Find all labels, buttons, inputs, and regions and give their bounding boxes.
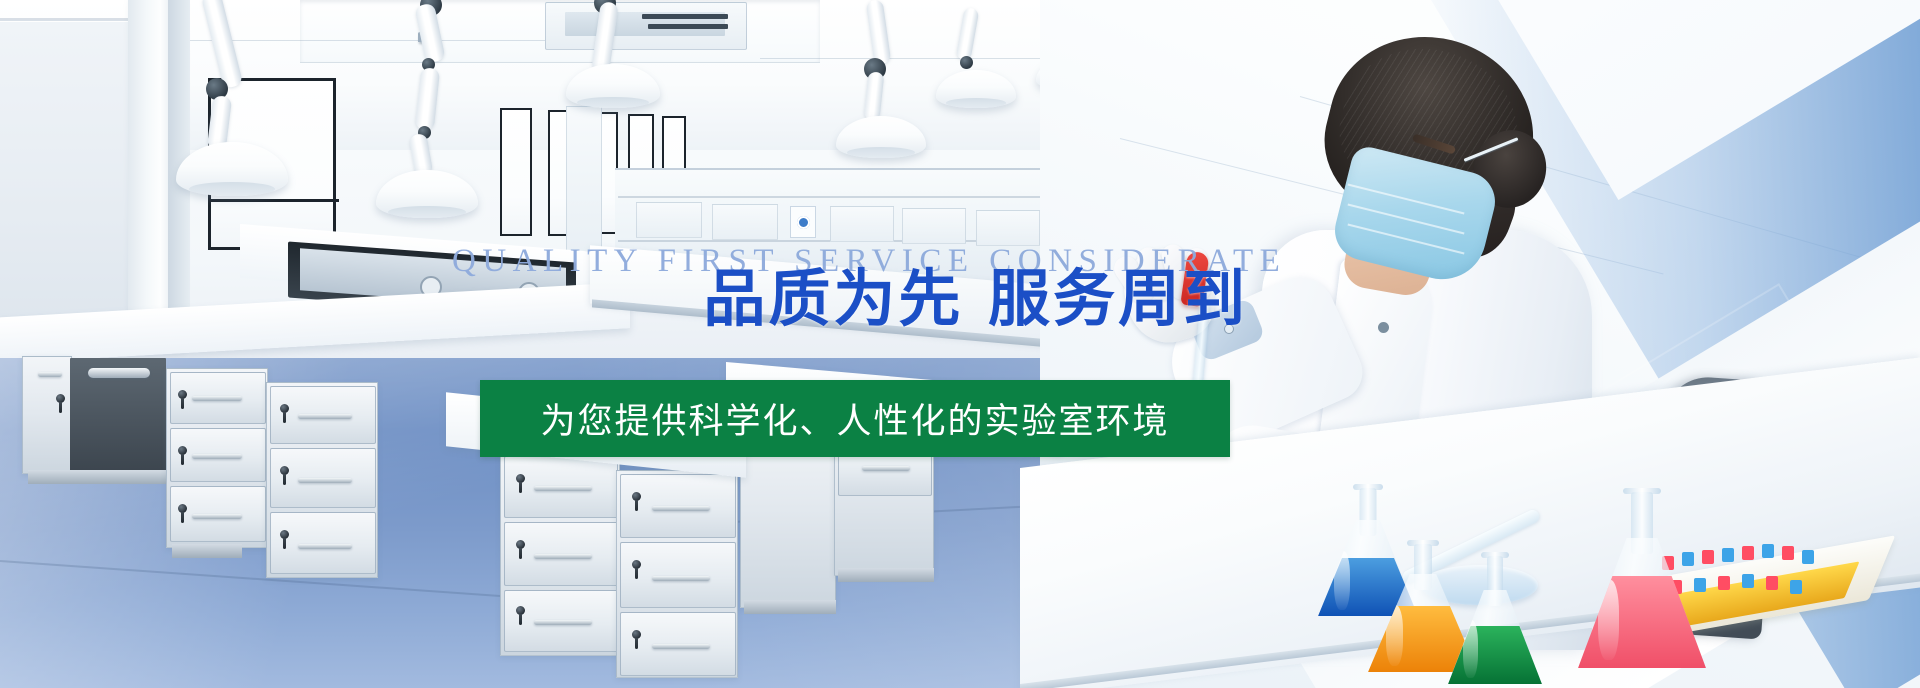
window-mullion (211, 199, 339, 202)
subtitle-green-bar: 为您提供科学化、人性化的实验室环境 (480, 380, 1230, 457)
shelf-cell (830, 206, 894, 242)
ceiling-recess-line (300, 62, 820, 63)
tip-marker (1762, 544, 1774, 558)
ac-vent-slat (648, 24, 728, 29)
drawer-handle (192, 454, 242, 459)
shelf-cell (636, 202, 702, 238)
drawer-handle (534, 554, 592, 559)
flask-body (1448, 590, 1542, 684)
fume-arm-joint (960, 56, 973, 69)
drawer-handle (192, 396, 242, 401)
tip-marker (1742, 574, 1754, 588)
tip-marker (1790, 580, 1802, 594)
tip-marker (1722, 548, 1734, 562)
drawer-handle (652, 506, 710, 511)
shelf-cell (976, 210, 1040, 246)
lab-hero-banner: QUALITY FIRST SERVICE CONSIDERATE 品质为先 服… (0, 0, 1920, 688)
shelf-cell (902, 208, 966, 244)
head (1326, 30, 1546, 282)
subtitle-text: 为您提供科学化、人性化的实验室环境 (540, 393, 1169, 444)
cabinet-lock (56, 394, 65, 403)
ceiling-edge-line (180, 40, 600, 41)
drawer-lock (632, 560, 641, 569)
drawer-handle (652, 644, 710, 649)
window-slot (500, 108, 532, 236)
drawer-handle (534, 620, 592, 625)
tip-marker (1742, 546, 1754, 560)
drawer-lock (632, 492, 641, 501)
flask-highlight (1463, 620, 1478, 678)
drawer-lock (280, 530, 289, 539)
drawer-lock (280, 404, 289, 413)
safety-sign (790, 206, 816, 238)
drawer-lock (516, 474, 525, 483)
cabinet-plinth (838, 568, 934, 582)
drawer-handle (652, 576, 710, 581)
collar-button (1378, 322, 1389, 333)
headline-chinese: 品质为先 服务周到 (588, 248, 1248, 338)
shelf-cell (712, 204, 778, 240)
cabinet-plinth (744, 600, 836, 614)
drawer-handle (862, 466, 910, 471)
drawer-lock (632, 630, 641, 639)
drawer-lock (178, 504, 187, 513)
tip-marker (1718, 576, 1730, 590)
cabinet-handle (38, 372, 62, 377)
tip-marker (1766, 576, 1778, 590)
flask-liquid (1578, 576, 1706, 668)
tip-marker (1802, 550, 1814, 564)
cabinet-plinth (28, 470, 168, 484)
drawer-lock (516, 606, 525, 615)
safety-sign-icon (797, 216, 810, 229)
flask-highlight (1334, 551, 1350, 611)
wall-corner-line (0, 18, 132, 20)
flask-body (1578, 538, 1706, 668)
bin-handle (88, 368, 150, 378)
door-panel (566, 106, 602, 252)
flask-green (1448, 556, 1542, 684)
drawer-handle (534, 486, 592, 491)
ac-vent-slat (642, 14, 728, 19)
drawer-lock (178, 390, 187, 399)
drawer-lock (178, 446, 187, 455)
drawer-handle (298, 544, 352, 549)
flask-highlight (1598, 580, 1618, 661)
cabinet-plinth (172, 544, 242, 558)
drawer-lock (516, 540, 525, 549)
laboratory-photo-background (0, 0, 1920, 688)
drawer-lock (280, 466, 289, 475)
wall-left (0, 22, 132, 342)
drawer-handle (192, 514, 242, 519)
tip-marker (1782, 546, 1794, 560)
drawer-handle (298, 414, 352, 419)
drawer-handle (298, 478, 352, 483)
flask-highlight (1386, 605, 1404, 666)
flask-pink (1578, 492, 1706, 668)
